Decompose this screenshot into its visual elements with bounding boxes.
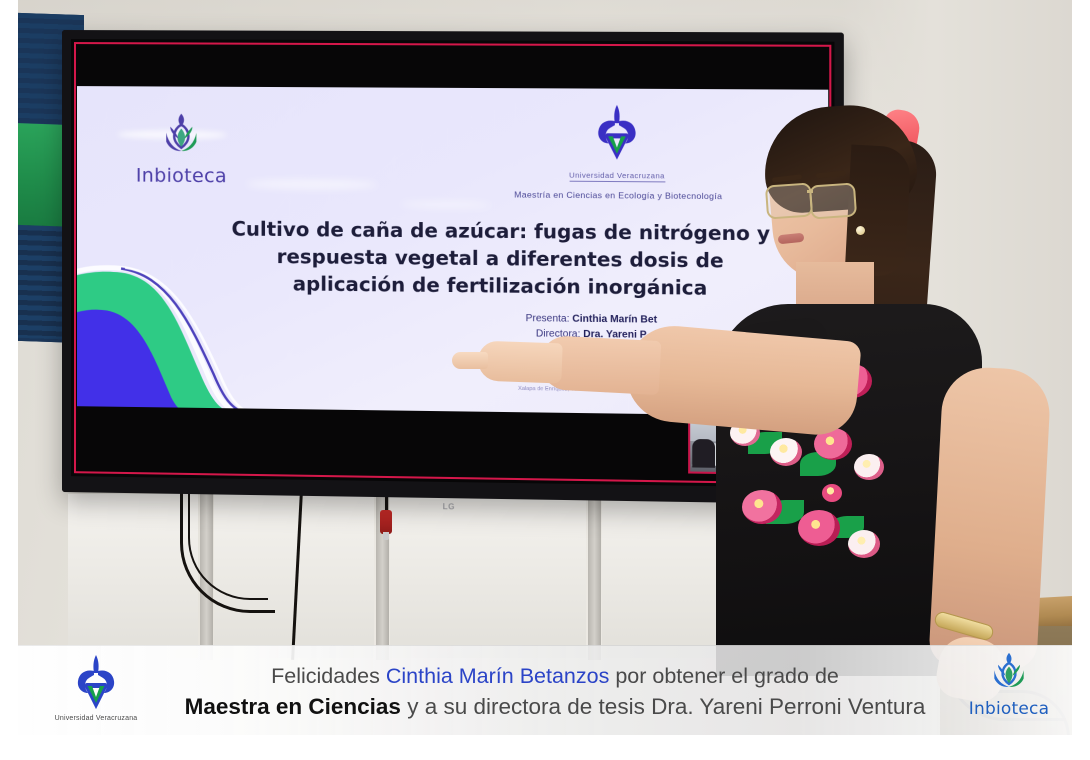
banner-line1-prefix: Felicidades (271, 664, 386, 688)
eyeglasses-right-lens (809, 182, 857, 219)
eyeglasses-bridge (807, 190, 813, 193)
inbioteca-icon (156, 111, 206, 159)
banner-line2-middle: y a su directora de tesis (401, 694, 651, 719)
wall-lower-panel (390, 494, 586, 658)
earring (856, 226, 865, 235)
page-margin-right (1072, 0, 1090, 760)
banner-message: Felicidades Cinthia Marín Betanzos por o… (158, 651, 952, 731)
thesis-director-name: Dra. Yareni Perroni Ventura (651, 694, 925, 719)
fleur-de-lis-icon (65, 653, 127, 709)
congratulations-banner: Universidad Veracruzana Felicidades Cint… (18, 645, 1072, 735)
graduate-name: Cinthia Marín Betanzos (386, 664, 609, 688)
uv-caption: Universidad Veracruzana (36, 715, 156, 722)
banner-divider (18, 645, 1072, 646)
page-margin-bottom (0, 735, 1090, 760)
presenter-label: Presenta: (526, 313, 570, 325)
banner-line1-suffix: por obtener el grado de (609, 664, 839, 688)
eyeglasses-left-lens (765, 182, 813, 219)
pointing-hand (477, 341, 562, 384)
rca-plug-tip (383, 532, 389, 540)
page-margin-left (0, 0, 18, 760)
pointing-finger (452, 352, 488, 369)
banner-uv-logo: Universidad Veracruzana (36, 653, 156, 722)
presenter-person (618, 86, 1072, 676)
inbioteca-wordmark: Inbioteca (954, 699, 1064, 719)
banner-line-1: Felicidades Cinthia Marín Betanzos por o… (271, 661, 839, 691)
wall-lower-panel (68, 494, 198, 658)
degree-title: Maestra en Ciencias (185, 694, 401, 719)
slide-inbioteca-logo: Inbioteca (129, 110, 234, 187)
screenshot-root: LG (0, 0, 1090, 760)
wall-mullion (588, 492, 601, 660)
rca-plug (380, 510, 392, 534)
banner-inbioteca-logo: Inbioteca (954, 651, 1064, 719)
inbioteca-wordmark: Inbioteca (129, 164, 234, 187)
wall-panel-green (18, 123, 66, 231)
banner-line-2: Maestra en Ciencias y a su directora de … (185, 691, 926, 722)
inbioteca-icon (986, 651, 1032, 695)
screen-glare (400, 201, 492, 209)
tv-brand-label: LG (443, 502, 455, 511)
screen-glare (246, 179, 378, 189)
